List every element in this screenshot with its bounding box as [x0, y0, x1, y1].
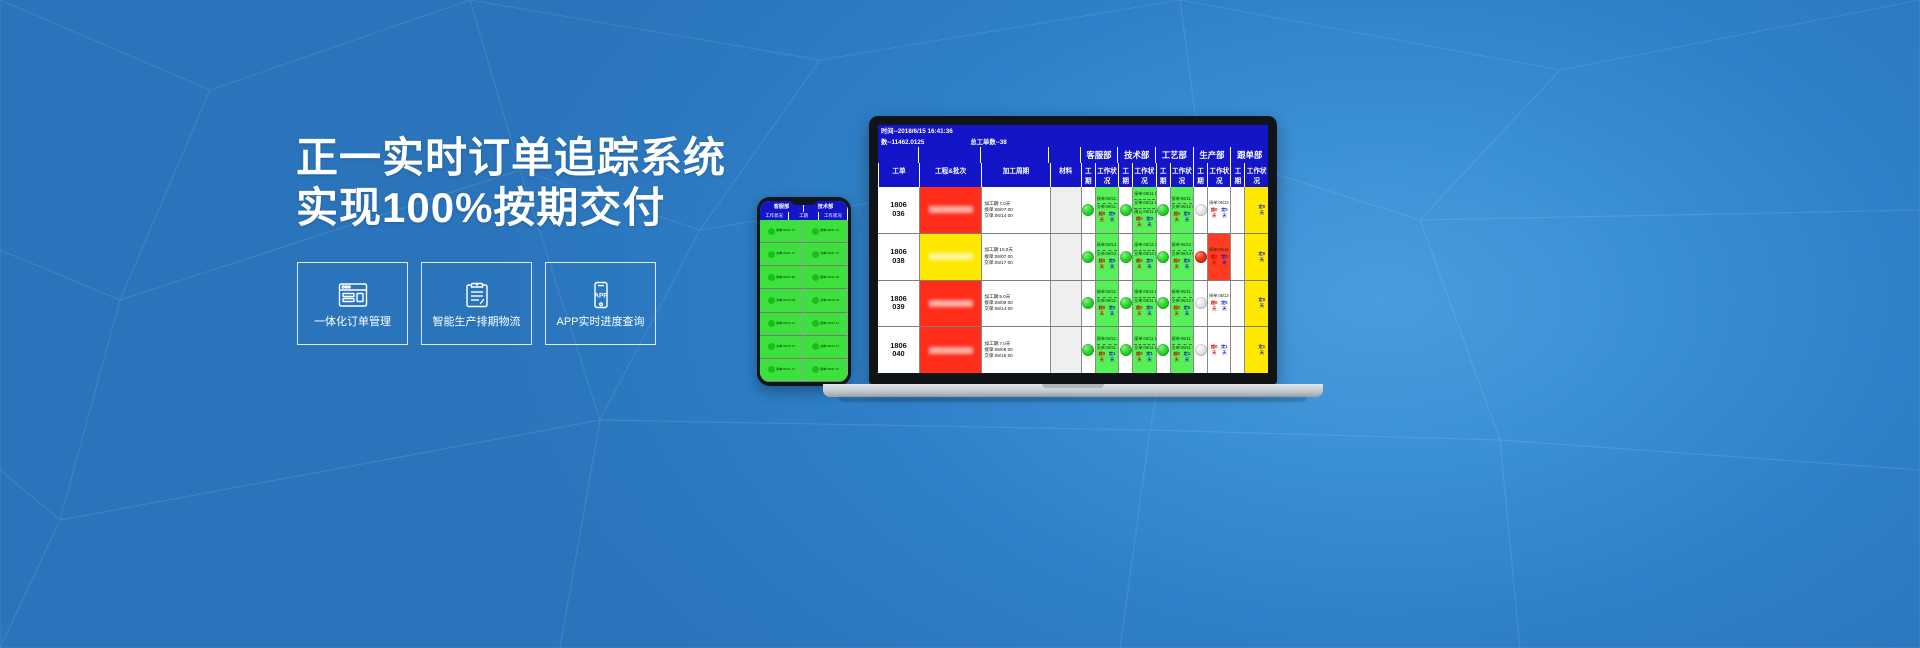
- cycle-line: 交单:06/14 00: [984, 306, 1047, 312]
- status-date-line: 接单:06/11 17: [1134, 192, 1154, 197]
- status-dot-icon: [1120, 344, 1132, 356]
- status-badge-row: 超0天定0天: [1209, 207, 1229, 219]
- overdue-badge: [1246, 297, 1256, 309]
- work-order-cell[interactable]: 1806036: [878, 187, 919, 233]
- status-dot-icon: [768, 366, 775, 373]
- work-order-text: 039: [892, 303, 904, 311]
- scheduled-badge: 定0天: [1182, 305, 1192, 317]
- app-total-orders-label: 总工单数--38: [970, 137, 1006, 146]
- status-date-line: 接单:06/13 13: [1209, 294, 1229, 299]
- status-date-line: 交单:06/12 09: [1172, 203, 1192, 210]
- phone-cell-text: 接单:06/13 17: [776, 322, 795, 326]
- work-order-cell[interactable]: 1806039: [878, 281, 919, 327]
- overdue-badge: 超0天: [1209, 300, 1219, 312]
- status-date-line: 接单:06/11 17: [1097, 290, 1117, 295]
- status-dot-icon: [1157, 297, 1169, 309]
- status-badge-row: 超0天定0天: [1134, 216, 1154, 228]
- app-column-header-row: 工单 工程&批次 加工周期 材料 工期 工作状况 工期 工作状况 工期 工作状况…: [878, 163, 1268, 187]
- department-duration-cell[interactable]: [1193, 187, 1207, 233]
- clipboard-checklist-icon: [460, 280, 494, 310]
- app-col-duration-tech[interactable]: 工期: [1118, 163, 1132, 187]
- overdue-badge: 超0天: [1172, 351, 1182, 363]
- laptop-base: [823, 384, 1323, 397]
- phone-subheader-status-left: 工作状况: [760, 212, 789, 220]
- status-date-line: 交单:06/11 17: [1134, 344, 1154, 351]
- status-date-line: 交单:06/14 00: [1134, 250, 1154, 257]
- scheduled-badge: 定1天: [1257, 344, 1267, 356]
- status-badge-row: 超0天定0天: [1209, 300, 1229, 312]
- work-order-cell[interactable]: 1806040: [878, 327, 919, 373]
- status-dot-icon: [812, 343, 819, 350]
- department-duration-cell[interactable]: [1230, 234, 1244, 280]
- feature-label-production-schedule: 智能生产排期物流: [433, 316, 521, 328]
- phone-cell-text: 接单:06/11 17: [776, 368, 795, 372]
- status-date-line: 交单:06/11 17: [1097, 297, 1117, 304]
- department-duration-cell[interactable]: [1118, 281, 1132, 327]
- overdue-badge: 超0天: [1097, 258, 1107, 270]
- department-status-cell[interactable]: 超0天定1天: [1207, 327, 1230, 373]
- status-badge-row: 超0天定1天: [1172, 351, 1192, 363]
- department-duration-cell[interactable]: [1118, 234, 1132, 280]
- status-dot-icon: [768, 228, 775, 235]
- app-col-cycle[interactable]: 加工周期: [981, 163, 1049, 187]
- status-badge-row: 超0天定0天: [1097, 305, 1117, 317]
- app-number-label: 数--11462.0125: [878, 137, 924, 146]
- status-date-line: 交单:06/14 00: [1172, 250, 1192, 257]
- work-order-text: 036: [892, 210, 904, 218]
- status-dot-icon: [812, 297, 819, 304]
- app-dept-header-process[interactable]: 工艺部: [1155, 147, 1193, 163]
- phone-cell[interactable]: 接单:06/11 17: [760, 220, 803, 243]
- department-status-cell[interactable]: 定0天: [1244, 281, 1267, 327]
- svg-text:APP: APP: [594, 292, 608, 299]
- app-table-body[interactable]: 1806036加工期:7.0天接单:06/07 00交单:06/14 00接单:…: [878, 187, 1268, 373]
- status-date-line: 接单:06/11 17: [1172, 290, 1192, 295]
- department-status-cell[interactable]: 定0天: [1244, 234, 1267, 280]
- status-dot-icon: [1195, 344, 1207, 356]
- overdue-badge: [1246, 344, 1256, 356]
- app-dept-header-technical[interactable]: 技术部: [1117, 147, 1155, 163]
- phone-cell[interactable]: 接单:06/11 17: [760, 359, 803, 382]
- status-dot-icon: [768, 297, 775, 304]
- processing-cycle-cell[interactable]: 加工期:7.0天接单:06/07 00交单:06/14 00: [981, 187, 1049, 233]
- department-duration-cell[interactable]: [1081, 234, 1095, 280]
- status-dot-icon: [1120, 251, 1132, 263]
- laptop-mockup: 时间--2018/6/15 16:41:36 数--11462.0125 总工单…: [823, 116, 1323, 416]
- status-badge-row: 超0天定1天: [1209, 344, 1229, 356]
- app-col-status-cs[interactable]: 工作状况: [1095, 163, 1118, 187]
- status-date-line: 接单:06/11 17: [1172, 337, 1192, 342]
- redacted-project-name: [929, 253, 973, 260]
- app-col-status-tech[interactable]: 工作状况: [1132, 163, 1155, 187]
- scheduled-badge: 定0天: [1257, 251, 1267, 263]
- phone-cell[interactable]: 接单:06/12 20: [760, 266, 803, 289]
- app-col-status-follow[interactable]: 工作状况: [1244, 163, 1267, 187]
- status-badge-row: 超0天定0天: [1097, 258, 1117, 270]
- status-date-line: 交单:06/11 17: [1097, 344, 1117, 351]
- status-dot-icon: [1120, 204, 1132, 216]
- scheduled-badge: 定0天: [1144, 216, 1154, 228]
- table-row[interactable]: 1806039加工期:5.0天接单:06/09 00交单:06/14 00接单:…: [878, 281, 1268, 328]
- status-dot-icon: [1082, 344, 1094, 356]
- phone-cell-text: 交单:06/11 17: [776, 252, 795, 256]
- app-col-duration-proc[interactable]: 工期: [1156, 163, 1170, 187]
- app-dept-header-customer-service[interactable]: 客服部: [1080, 147, 1118, 163]
- overdue-badge: 超0天: [1209, 207, 1219, 219]
- overdue-badge: 超0天: [1097, 351, 1107, 363]
- overdue-badge: 超2天: [1209, 254, 1219, 266]
- feature-label-app-progress: APP实时进度查询: [556, 316, 644, 328]
- app-col-status-prod[interactable]: 工作状况: [1207, 163, 1230, 187]
- department-status-cell[interactable]: 接单:06/11 17交单:06/11 17超0天定0天: [1095, 187, 1118, 233]
- app-dept-header-production[interactable]: 生产部: [1193, 147, 1231, 163]
- status-date-line: 接单:06/12 20: [1172, 243, 1192, 248]
- department-duration-cell[interactable]: [1081, 187, 1095, 233]
- app-dept-header-followup[interactable]: 跟单部: [1230, 147, 1268, 163]
- status-badge-row: 超2天定0天: [1209, 254, 1229, 266]
- status-date-line: 接单:06/13 13: [1209, 201, 1229, 206]
- status-dot-icon: [1157, 204, 1169, 216]
- hero-headline-line2: 实现100%按期交付: [296, 183, 726, 233]
- department-status-cell[interactable]: 接单:06/12 20交单:06/12 20超0天定0天: [1095, 234, 1118, 280]
- status-dot-icon: [768, 343, 775, 350]
- overdue-badge: 超0天: [1172, 258, 1182, 270]
- scheduled-badge: 定0天: [1107, 211, 1117, 223]
- scheduled-badge: 定0天: [1144, 258, 1154, 270]
- status-badge-row: 超0天定1天: [1134, 351, 1154, 363]
- department-status-cell[interactable]: 定0天: [1244, 187, 1267, 233]
- material-cell[interactable]: [1050, 281, 1081, 327]
- overdue-badge: 超0天: [1097, 305, 1107, 317]
- app-time-label: 时间--2018/6/15 16:41:36: [878, 126, 953, 135]
- overdue-badge: 超0天: [1097, 211, 1107, 223]
- status-dot-icon: [1120, 297, 1132, 309]
- status-badge-row: 定0天: [1246, 251, 1266, 263]
- material-cell[interactable]: [1050, 327, 1081, 373]
- work-order-cell[interactable]: 1806038: [878, 234, 919, 280]
- status-date-line: 交单:06/11 17: [1097, 203, 1117, 210]
- app-title-bar-row2: 数--11462.0125 总工单数--38: [878, 136, 1268, 147]
- department-status-cell[interactable]: 接单:06/12 20交单:06/14 00超0天定0天: [1132, 234, 1155, 280]
- status-date-line: 接单:06/11 17: [1134, 337, 1154, 342]
- overdue-badge: 超0天: [1134, 305, 1144, 317]
- app-department-header-row: 客服部 技术部 工艺部 生产部 跟单部: [878, 147, 1268, 163]
- status-date-line: 交单:06/12 20: [1097, 250, 1117, 257]
- scheduled-badge: 定0天: [1219, 207, 1229, 219]
- laptop-shadow: [839, 397, 1307, 402]
- material-cell[interactable]: [1050, 234, 1081, 280]
- phone-cell-text: 交单:06/12 09: [776, 299, 795, 303]
- feature-box-list: 一体化订单管理 智能生产排期物流: [297, 262, 656, 345]
- scheduled-badge: 定1天: [1182, 351, 1192, 363]
- cycle-line: 交单:06/14 00: [984, 213, 1047, 219]
- department-status-cell[interactable]: 接单:06/14 00超2天定0天: [1207, 234, 1230, 280]
- scheduled-badge: 定0天: [1182, 211, 1192, 223]
- app-title-bar-row1: 时间--2018/6/15 16:41:36: [878, 125, 1268, 136]
- app-col-project-batch[interactable]: 工程&批次: [919, 163, 981, 187]
- phone-cell-text: 接单:06/11 17: [776, 229, 795, 233]
- status-badge-row: 超0天定0天: [1172, 211, 1192, 223]
- cycle-line: 交单:06/17 00: [984, 260, 1047, 266]
- table-row[interactable]: 1806036加工期:7.0天接单:06/07 00交单:06/14 00接单:…: [878, 187, 1268, 234]
- department-duration-cell[interactable]: [1156, 234, 1170, 280]
- status-dot-icon: [812, 320, 819, 327]
- laptop-screen: 时间--2018/6/15 16:41:36 数--11462.0125 总工单…: [878, 125, 1268, 373]
- status-dot-icon: [1082, 297, 1094, 309]
- mobile-app-icon: APP: [584, 280, 618, 310]
- department-duration-cell[interactable]: [1193, 327, 1207, 373]
- department-duration-cell[interactable]: [1156, 187, 1170, 233]
- redacted-project-name: [929, 206, 973, 213]
- status-date-line: 接单:06/14 00: [1209, 248, 1229, 253]
- app-col-work-order[interactable]: 工单: [878, 163, 919, 187]
- cycle-line: 交单:06/15 00: [984, 353, 1047, 359]
- processing-cycle-cell[interactable]: 加工期:7.0天接单:06/08 00交单:06/15 00: [981, 327, 1049, 373]
- status-dot-icon: [1157, 251, 1169, 263]
- phone-subheader-duration: 工期: [789, 212, 818, 220]
- department-status-cell[interactable]: 接单:06/11 17交单:06/11 17确认:06/11 17超0天定0天: [1132, 187, 1155, 233]
- department-duration-cell[interactable]: [1230, 187, 1244, 233]
- app-title-bar: 时间--2018/6/15 16:41:36 数--11462.0125 总工单…: [878, 125, 1268, 147]
- overdue-badge: [1246, 251, 1256, 263]
- status-dot-icon: [812, 366, 819, 373]
- department-duration-cell[interactable]: [1230, 281, 1244, 327]
- department-duration-cell[interactable]: [1081, 281, 1095, 327]
- status-dot-icon: [1195, 297, 1207, 309]
- material-cell[interactable]: [1050, 187, 1081, 233]
- status-date-line: 确认:06/11 17: [1134, 208, 1154, 215]
- status-badge-row: 定1天: [1246, 344, 1266, 356]
- phone-cell[interactable]: 接单:06/13 17: [760, 313, 803, 336]
- phone-cell-text: 交单:06/13 17: [776, 345, 795, 349]
- status-date-line: 交单:06/12 09: [1172, 297, 1192, 304]
- laptop-lid: 时间--2018/6/15 16:41:36 数--11462.0125 总工单…: [869, 116, 1277, 384]
- processing-cycle-cell[interactable]: 加工期:10.0天接单:06/07 00交单:06/17 00: [981, 234, 1049, 280]
- scheduled-badge: 定0天: [1219, 254, 1229, 266]
- status-date-line: 接单:06/12 20: [1134, 243, 1154, 248]
- department-status-cell[interactable]: 接单:06/12 20交单:06/14 00超0天定0天: [1170, 234, 1193, 280]
- phone-cell-text: 接单:06/12 20: [776, 276, 795, 280]
- banner-root: 正一实时订单追踪系统 实现100%按期交付 一体化订单管理: [0, 0, 1920, 648]
- feature-label-order-management: 一体化订单管理: [314, 316, 391, 328]
- department-status-cell[interactable]: 接单:06/11 17交单:06/12 09超0天定0天: [1170, 281, 1193, 327]
- status-badge-row: 超0天定0天: [1172, 305, 1192, 317]
- status-dot-icon: [768, 251, 775, 258]
- department-duration-cell[interactable]: [1081, 327, 1095, 373]
- department-duration-cell[interactable]: [1156, 281, 1170, 327]
- project-batch-cell[interactable]: [919, 327, 981, 373]
- status-badge-row: 超0天定0天: [1134, 305, 1154, 317]
- feature-box-app-progress[interactable]: APP APP实时进度查询: [545, 262, 656, 345]
- scheduled-badge: 定0天: [1257, 204, 1267, 216]
- overdue-badge: 超0天: [1209, 344, 1219, 356]
- overdue-badge: 超0天: [1134, 216, 1144, 228]
- status-date-line: 接单:06/11 17: [1134, 290, 1154, 295]
- scheduled-badge: 定0天: [1182, 258, 1192, 270]
- status-date-line: 接单:06/11 17: [1097, 197, 1117, 202]
- status-badge-row: 定0天: [1246, 204, 1266, 216]
- processing-cycle-cell[interactable]: 加工期:5.0天接单:06/09 00交单:06/14 00: [981, 281, 1049, 327]
- scheduled-badge: 定1天: [1144, 351, 1154, 363]
- scheduled-badge: 定0天: [1144, 305, 1154, 317]
- status-dot-icon: [1195, 251, 1207, 263]
- feature-box-order-management[interactable]: 一体化订单管理: [297, 262, 408, 345]
- status-date-line: 接单:06/11 17: [1172, 197, 1192, 202]
- phone-cell[interactable]: 交单:06/12 09: [760, 289, 803, 312]
- phone-cell[interactable]: 交单:06/13 17: [760, 336, 803, 359]
- feature-box-production-schedule[interactable]: 智能生产排期物流: [421, 262, 532, 345]
- hero-copy: 正一实时订单追踪系统 实现100%按期交付: [296, 133, 726, 233]
- department-duration-cell[interactable]: [1193, 281, 1207, 327]
- status-badge-row: 超0天定0天: [1172, 258, 1192, 270]
- phone-cell[interactable]: 交单:06/11 17: [760, 243, 803, 266]
- department-duration-cell[interactable]: [1193, 234, 1207, 280]
- department-duration-cell[interactable]: [1230, 327, 1244, 373]
- work-order-text: 040: [892, 350, 904, 358]
- department-status-cell[interactable]: 接单:06/11 17交单:06/11 17超0天定0天: [1132, 281, 1155, 327]
- status-date-line: 接单:06/11 17: [1097, 337, 1117, 342]
- scheduled-badge: 定1天: [1107, 351, 1117, 363]
- app-col-duration-follow[interactable]: 工期: [1230, 163, 1244, 187]
- hero-headline-line1: 正一实时订单追踪系统: [296, 133, 726, 183]
- scheduled-badge: 定0天: [1107, 305, 1117, 317]
- status-date-line: 交单:06/11 17: [1134, 199, 1154, 206]
- project-batch-cell[interactable]: [919, 281, 981, 327]
- app-col-status-proc[interactable]: 工作状况: [1170, 163, 1193, 187]
- dashboard-window-icon: [336, 280, 370, 310]
- department-duration-cell[interactable]: [1118, 327, 1132, 373]
- status-date-line: 交单:06/11 17: [1172, 344, 1192, 351]
- status-badge-row: 定0天: [1246, 297, 1266, 309]
- status-dot-icon: [1195, 204, 1207, 216]
- scheduled-badge: 定0天: [1219, 300, 1229, 312]
- app-col-material[interactable]: 材料: [1050, 163, 1081, 187]
- department-status-cell[interactable]: 接单:06/11 17交单:06/11 17超0天定1天: [1132, 327, 1155, 373]
- redacted-project-name: [929, 347, 973, 354]
- department-duration-cell[interactable]: [1118, 187, 1132, 233]
- phone-column-customer-service: 接单:06/11 17 交单:06/11 17 接单:06/12 20 交单:0…: [760, 220, 804, 382]
- status-dot-icon: [812, 274, 819, 281]
- department-status-cell[interactable]: 接单:06/11 17交单:06/12 09超0天定0天: [1170, 187, 1193, 233]
- phone-dept-header-customer-service: 客服部: [760, 201, 804, 212]
- overdue-badge: 超0天: [1172, 211, 1182, 223]
- department-status-cell[interactable]: 接单:06/11 17交单:06/11 17超0天定0天: [1095, 281, 1118, 327]
- project-batch-cell[interactable]: [919, 234, 981, 280]
- app-col-duration-prod[interactable]: 工期: [1193, 163, 1207, 187]
- table-row[interactable]: 1806040加工期:7.0天接单:06/08 00交单:06/15 00接单:…: [878, 327, 1268, 373]
- department-status-cell[interactable]: 定1天: [1244, 327, 1267, 373]
- status-badge-row: 超0天定0天: [1134, 258, 1154, 270]
- overdue-badge: [1246, 204, 1256, 216]
- scheduled-badge: 定0天: [1107, 258, 1117, 270]
- department-status-cell[interactable]: 接单:06/11 17交单:06/11 17超0天定1天: [1170, 327, 1193, 373]
- scheduled-badge: 定0天: [1257, 297, 1267, 309]
- app-col-duration-cs[interactable]: 工期: [1081, 163, 1095, 187]
- status-badge-row: 超0天定1天: [1097, 351, 1117, 363]
- work-order-text: 038: [892, 257, 904, 265]
- department-status-cell[interactable]: 接单:06/13 13超0天定0天: [1207, 281, 1230, 327]
- table-row[interactable]: 1806038加工期:10.0天接单:06/07 00交单:06/17 00接单…: [878, 234, 1268, 281]
- redacted-project-name: [929, 300, 973, 307]
- status-dot-icon: [768, 274, 775, 281]
- status-date-line: 交单:06/11 17: [1134, 297, 1154, 304]
- department-status-cell[interactable]: 接单:06/13 13超0天定0天: [1207, 187, 1230, 233]
- status-dot-icon: [812, 228, 819, 235]
- scheduled-badge: 定1天: [1219, 344, 1229, 356]
- overdue-badge: 超0天: [1172, 305, 1182, 317]
- overdue-badge: 超0天: [1134, 351, 1144, 363]
- department-duration-cell[interactable]: [1156, 327, 1170, 373]
- project-batch-cell[interactable]: [919, 187, 981, 233]
- department-status-cell[interactable]: 接单:06/11 17交单:06/11 17超0天定1天: [1095, 327, 1118, 373]
- overdue-badge: 超0天: [1134, 258, 1144, 270]
- status-dot-icon: [812, 251, 819, 258]
- status-dot-icon: [1157, 344, 1169, 356]
- status-dot-icon: [768, 320, 775, 327]
- status-dot-icon: [1082, 204, 1094, 216]
- status-dot-icon: [1082, 251, 1094, 263]
- status-badge-row: 超0天定0天: [1097, 211, 1117, 223]
- status-date-line: 接单:06/12 20: [1097, 243, 1117, 248]
